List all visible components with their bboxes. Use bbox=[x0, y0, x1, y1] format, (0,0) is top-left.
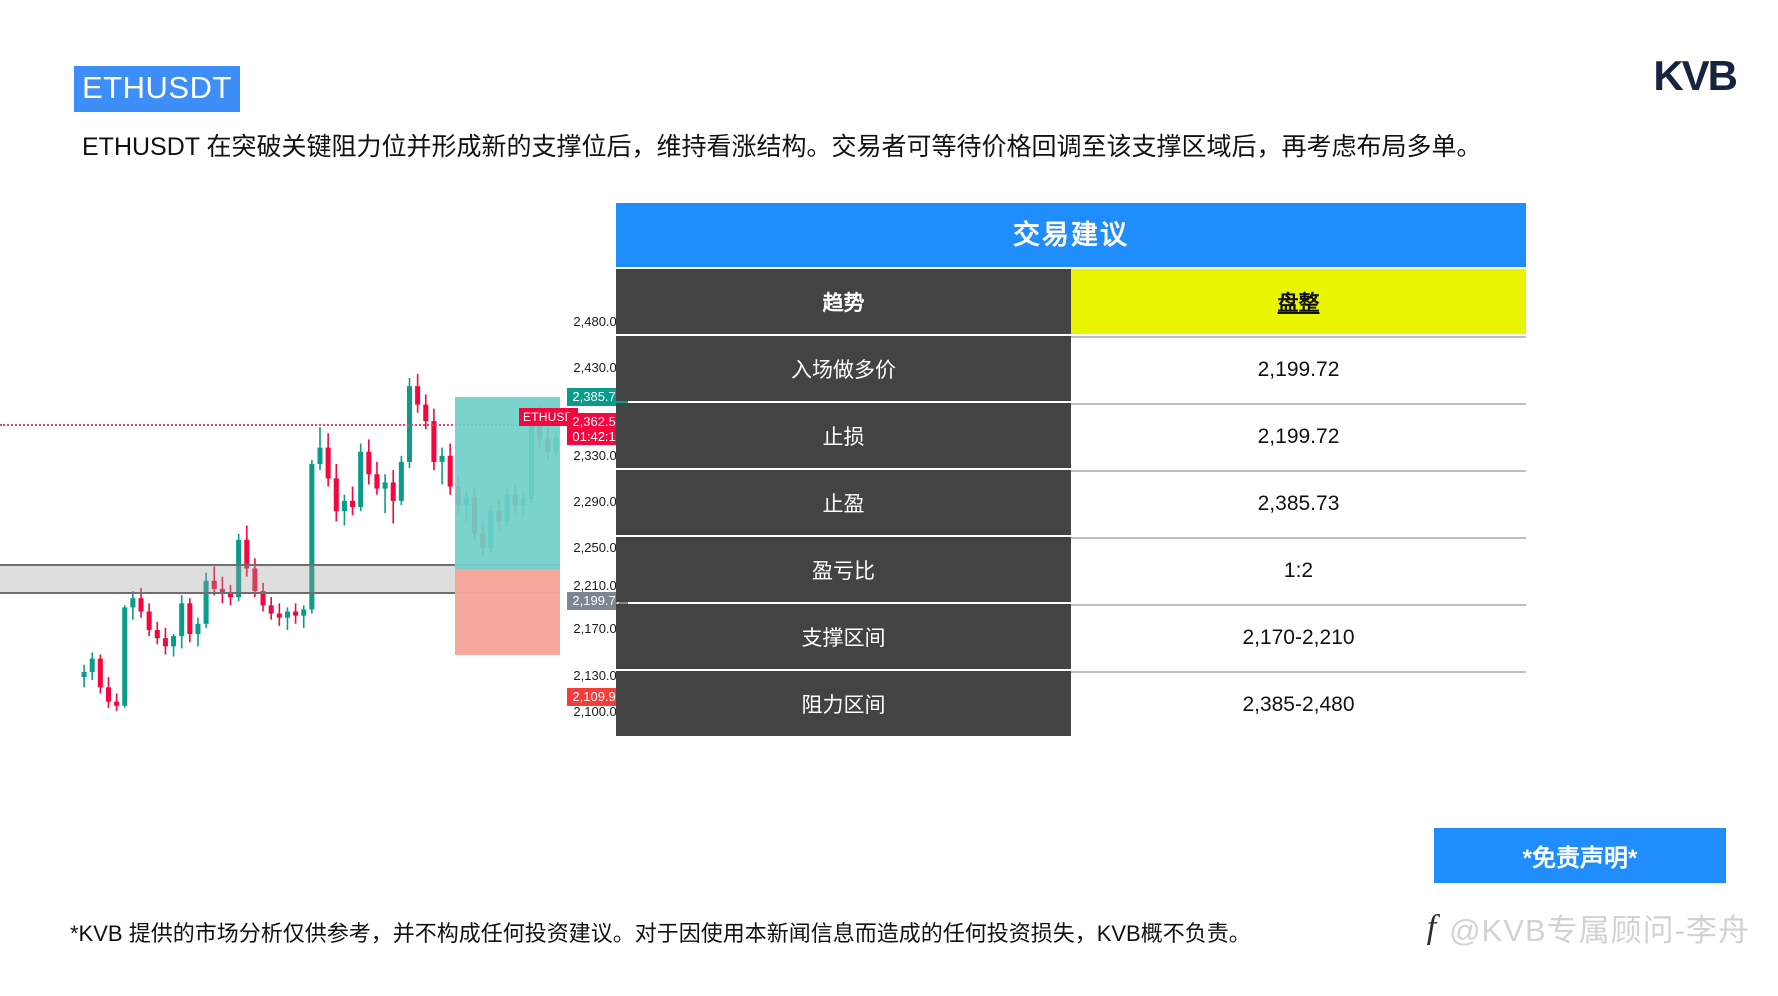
facebook-f-icon: f bbox=[1427, 909, 1437, 947]
table-row: 阻力区间2,385-2,480 bbox=[616, 671, 1526, 736]
trade-advice-table: 交易建议 趋势盘整入场做多价2,199.72止损2,199.72止盈2,385.… bbox=[616, 203, 1526, 736]
table-row-value: 2,170-2,210 bbox=[1071, 604, 1526, 669]
table-body: 趋势盘整入场做多价2,199.72止损2,199.72止盈2,385.73盈亏比… bbox=[616, 269, 1526, 736]
intro-paragraph: ETHUSDT 在突破关键阻力位并形成新的支撑位后，维持看涨结构。交易者可等待价… bbox=[82, 128, 1722, 166]
table-row-label: 趋势 bbox=[616, 269, 1071, 334]
table-row-label: 阻力区间 bbox=[616, 671, 1071, 736]
watermark: f @KVB专属顾问-李舟 bbox=[1427, 905, 1750, 950]
watermark-handle: @KVB专属顾问-李舟 bbox=[1449, 905, 1750, 950]
table-row: 趋势盘整 bbox=[616, 269, 1526, 334]
table-row-value: 2,199.72 bbox=[1071, 403, 1526, 468]
slide-root: ETHUSDT KVB ETHUSDT 在突破关键阻力位并形成新的支撑位后，维持… bbox=[0, 0, 1778, 996]
page-title: ETHUSDT bbox=[74, 66, 240, 112]
table-row-label: 止损 bbox=[616, 403, 1071, 468]
table-heading: 交易建议 bbox=[616, 203, 1526, 267]
table-row-value: 2,385.73 bbox=[1071, 470, 1526, 535]
table-row: 止损2,199.72 bbox=[616, 403, 1526, 468]
table-row-value: 2,385-2,480 bbox=[1071, 671, 1526, 736]
table-row-value: 2,199.72 bbox=[1071, 336, 1526, 401]
disclaimer-button[interactable]: *免责声明* bbox=[1434, 828, 1726, 883]
table-row-label: 入场做多价 bbox=[616, 336, 1071, 401]
footer-disclaimer-text: *KVB 提供的市场分析仅供参考，并不构成任何投资建议。对于因使用本新闻信息而造… bbox=[70, 918, 1320, 950]
table-row-label: 盈亏比 bbox=[616, 537, 1071, 602]
price-chart[interactable]: ETHUSD 2,480.00 2,430.00 2,385.73 2,362.… bbox=[0, 196, 700, 796]
table-row-label: 支撑区间 bbox=[616, 604, 1071, 669]
table-row-value: 盘整 bbox=[1071, 269, 1526, 334]
table-row: 入场做多价2,199.72 bbox=[616, 336, 1526, 401]
table-row: 止盈2,385.73 bbox=[616, 470, 1526, 535]
table-row-value: 1:2 bbox=[1071, 537, 1526, 602]
table-row-label: 止盈 bbox=[616, 470, 1071, 535]
stop-loss-zone-box bbox=[455, 569, 560, 655]
page-title-wrapper: ETHUSDT bbox=[74, 66, 240, 112]
table-row: 盈亏比1:2 bbox=[616, 537, 1526, 602]
table-row: 支撑区间2,170-2,210 bbox=[616, 604, 1526, 669]
kvb-logo: KVB bbox=[1653, 52, 1736, 100]
